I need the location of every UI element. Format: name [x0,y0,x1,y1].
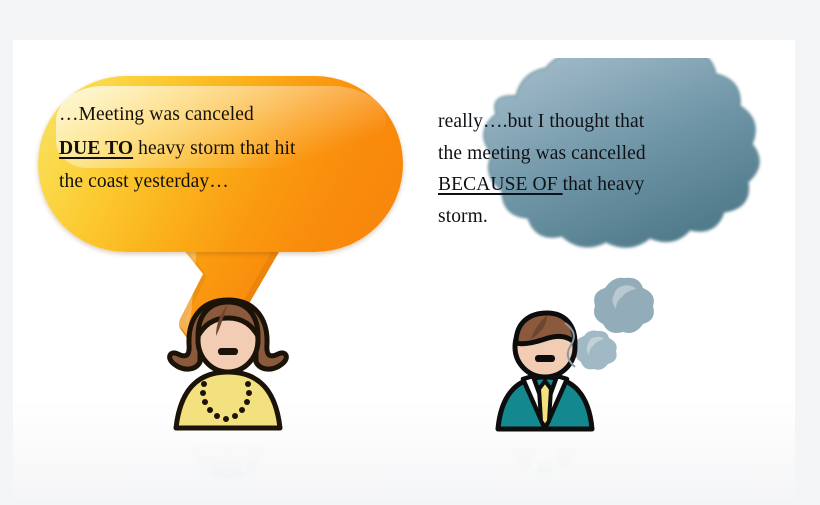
speech-line-2: DUE TO heavy storm that hit [59,132,379,166]
thought-bubble-text: really….but I thought that the meeting w… [438,106,758,232]
speech-emphasis-due-to: DUE TO [59,138,133,159]
yellow-tie [539,381,551,427]
speech-line-3: the coast yesterday… [59,165,379,199]
thought-line-2-text: the meeting was cancelled [438,143,646,164]
speech-line-3-text: the coast yesterday… [59,171,229,192]
thought-line-1-text: really….but I thought that [438,111,644,132]
thought-line-4-text: storm. [438,206,488,227]
woman-figure [160,292,296,432]
speech-line-2-text: heavy storm that hit [133,138,295,159]
cartoon-scene: …Meeting was canceled DUE TO heavy storm… [0,0,820,505]
thought-line-2: the meeting was cancelled [438,138,758,170]
thought-emphasis-because-of: BECAUSE OF [438,174,563,195]
canvas-bottom-fade [13,400,795,505]
speech-line-1: …Meeting was canceled [59,98,379,132]
thought-line-3-text: that heavy [563,174,645,195]
speech-bubble-text: …Meeting was canceled DUE TO heavy storm… [59,98,379,199]
man-figure [487,305,603,433]
speech-line-1-text: …Meeting was canceled [59,104,254,125]
thought-line-3: BECAUSE OF that heavy [438,169,758,201]
thought-line-1: really….but I thought that [438,106,758,138]
thought-line-4: storm. [438,201,758,233]
thought-bubble: really….but I thought that the meeting w… [412,58,792,293]
